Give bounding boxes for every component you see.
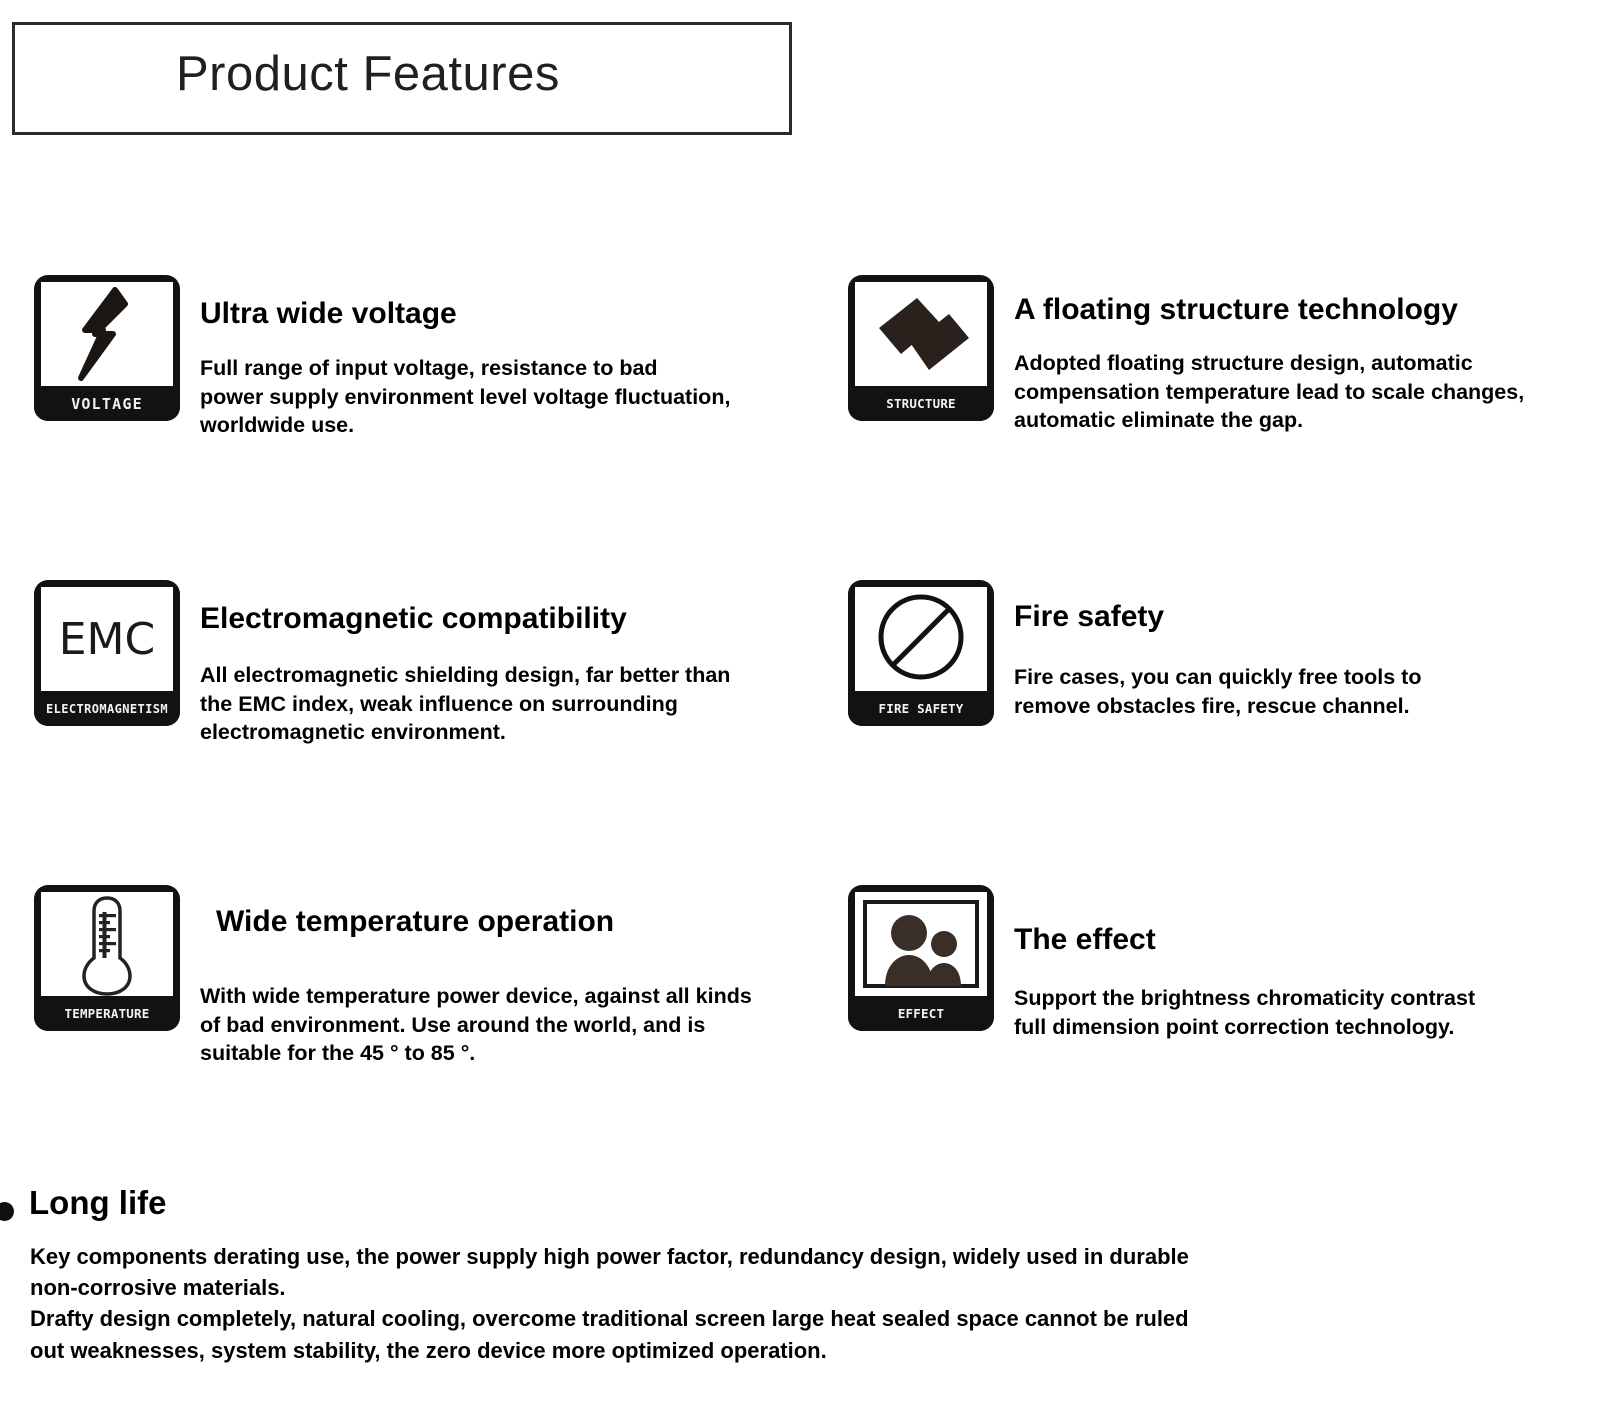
feature-body: Fire safety Fire cases, you can quickly … [1014, 580, 1594, 720]
temperature-icon-caption: TEMPERATURE [34, 996, 180, 1031]
temperature-icon-art [41, 892, 173, 996]
voltage-icon: VOLTAGE [34, 275, 180, 421]
feature-title: Fire safety [1014, 600, 1594, 633]
feature-row: VOLTAGE Ultra wide voltage Full range of… [0, 275, 1600, 580]
structure-icon: STRUCTURE [848, 275, 994, 421]
feature-title: Electromagnetic compatibility [200, 602, 850, 635]
feature-description: With wide temperature power device, agai… [200, 982, 850, 1068]
effect-icon-art [855, 892, 987, 996]
emc-icon: EMC ELECTROMAGNETISM [34, 580, 180, 726]
voltage-icon-art [41, 282, 173, 386]
effect-icon-caption: EFFECT [848, 996, 994, 1031]
feature-title: Wide temperature operation [216, 905, 850, 938]
feature-grid: VOLTAGE Ultra wide voltage Full range of… [0, 275, 1600, 1190]
fire-safety-icon-art [855, 587, 987, 691]
feature-row: EMC ELECTROMAGNETISM Electromagnetic com… [0, 580, 1600, 885]
feature-body: Ultra wide voltage Full range of input v… [200, 275, 850, 440]
feature-description: Support the brightness chromaticity cont… [1014, 984, 1594, 1041]
feature-description: Fire cases, you can quickly free tools t… [1014, 663, 1594, 720]
feature-body: The effect Support the brightness chroma… [1014, 885, 1594, 1041]
bullet-icon [0, 1202, 14, 1221]
fire-safety-icon: FIRE SAFETY [848, 580, 994, 726]
long-life-title: Long life [29, 1185, 166, 1221]
feature-title: A floating structure technology [1014, 293, 1594, 326]
effect-icon: EFFECT [848, 885, 994, 1031]
voltage-icon-caption: VOLTAGE [34, 386, 180, 421]
fire-safety-icon-caption: FIRE SAFETY [848, 691, 994, 726]
feature-description: All electromagnetic shielding design, fa… [200, 661, 850, 747]
emc-icon-caption: ELECTROMAGNETISM [34, 691, 180, 726]
feature-title: Ultra wide voltage [200, 297, 850, 330]
feature-title: The effect [1014, 923, 1594, 956]
structure-icon-caption: STRUCTURE [848, 386, 994, 421]
feature-body: Wide temperature operation With wide tem… [200, 885, 850, 1068]
temperature-icon: TEMPERATURE [34, 885, 180, 1031]
emc-icon-glyph-text: EMC [41, 587, 173, 691]
structure-icon-art [855, 282, 987, 386]
feature-description: Adopted floating structure design, autom… [1014, 349, 1594, 435]
feature-body: Electromagnetic compatibility All electr… [200, 580, 850, 747]
page-title: Product Features [176, 46, 560, 102]
feature-row: TEMPERATURE Wide temperature operation W… [0, 885, 1600, 1190]
emc-icon-art: EMC [41, 587, 173, 691]
long-life-description: Key components derating use, the power s… [30, 1241, 1430, 1366]
feature-description: Full range of input voltage, resistance … [200, 354, 850, 440]
feature-body: A floating structure technology Adopted … [1014, 275, 1594, 435]
